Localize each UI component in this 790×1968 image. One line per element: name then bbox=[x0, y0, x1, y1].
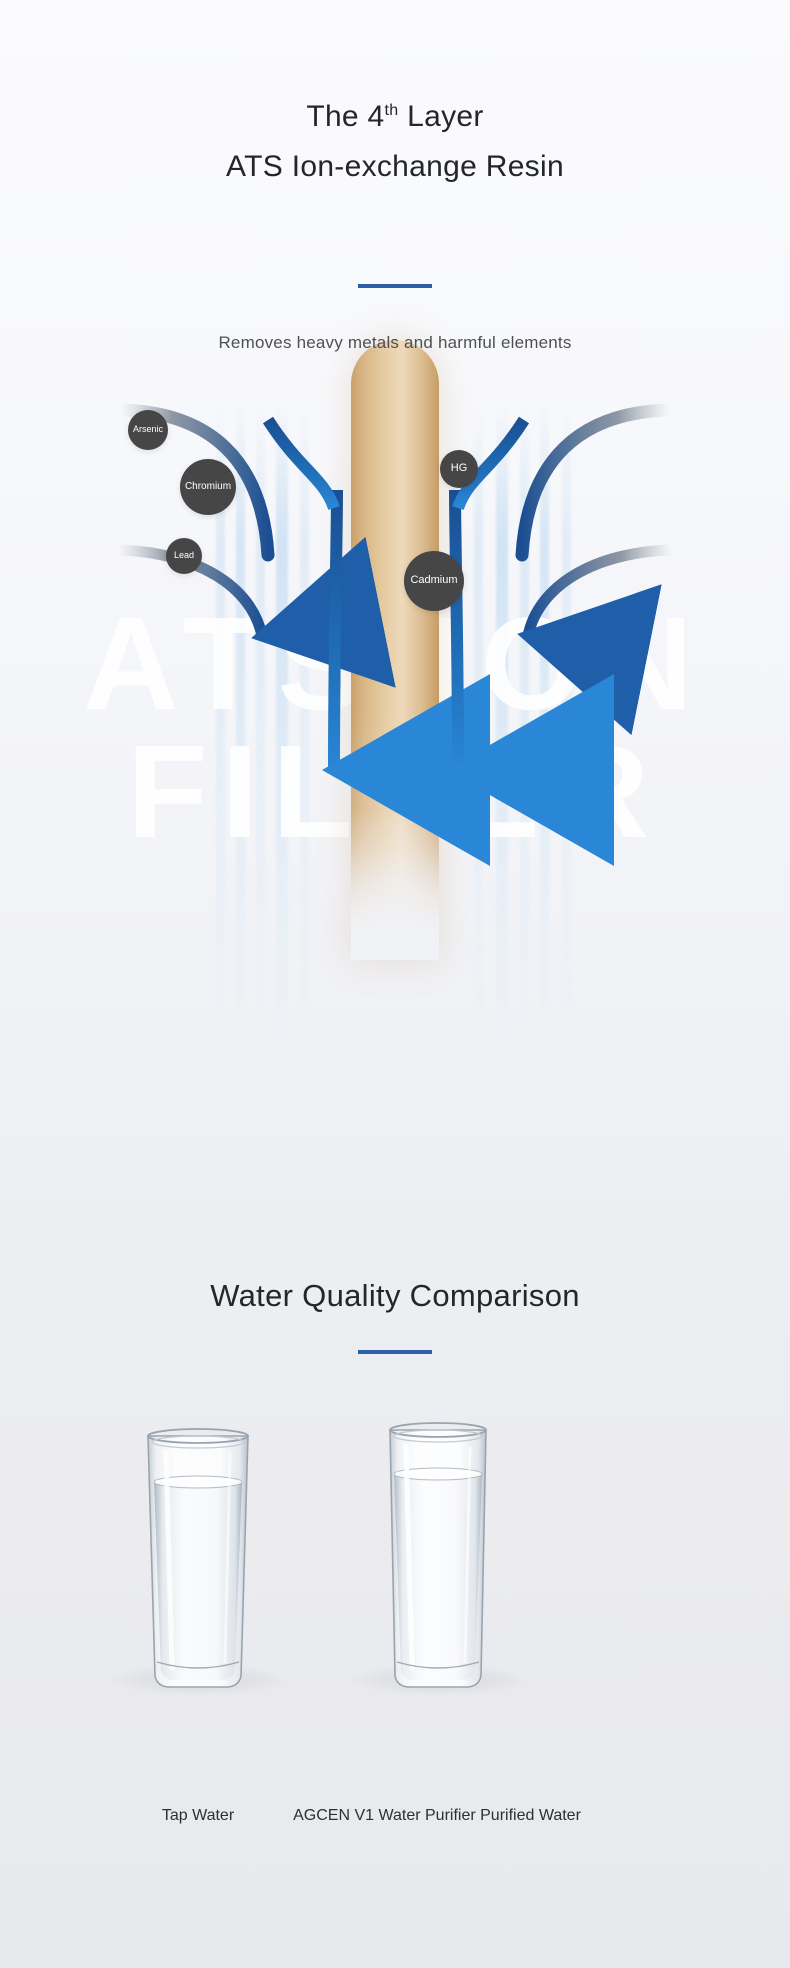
comparison-divider bbox=[358, 1350, 432, 1354]
hero-title-line-1: The 4th Layer bbox=[0, 92, 790, 142]
water-flow-arrows bbox=[0, 340, 790, 900]
badge-chromium: Chromium bbox=[180, 459, 236, 515]
comparison-title: Water Quality Comparison bbox=[0, 1278, 790, 1314]
tap-water-glass-icon bbox=[78, 1418, 318, 1718]
comparison-section: Water Quality Comparison bbox=[0, 1240, 790, 1968]
purified-water-glass-icon bbox=[318, 1418, 558, 1718]
hero-title-block: The 4th Layer ATS Ion-exchange Resin bbox=[0, 92, 790, 192]
hero-title-line-2: ATS Ion-exchange Resin bbox=[0, 142, 790, 192]
glass-cell-purified-water bbox=[318, 1418, 558, 1723]
badge-label: Arsenic bbox=[133, 425, 163, 434]
badge-label: Chromium bbox=[185, 482, 231, 493]
hero-section: ATS ION FILTER bbox=[0, 0, 790, 1240]
hero-title-suffix: Layer bbox=[398, 100, 483, 133]
hero-title-prefix: The 4 bbox=[306, 100, 384, 133]
badge-label: Cadmium bbox=[410, 575, 457, 587]
caption-purified-water: AGCEN V1 Water Purifier Purified Water bbox=[287, 1802, 587, 1829]
badge-label: Lead bbox=[174, 551, 194, 560]
badge-hg: HG bbox=[440, 450, 478, 488]
badge-lead: Lead bbox=[166, 538, 202, 574]
glass-cell-tap-water bbox=[78, 1418, 318, 1723]
ordinal-suffix: th bbox=[385, 102, 399, 119]
product-feature-page: ATS ION FILTER bbox=[0, 0, 790, 1968]
glass-row bbox=[0, 1418, 790, 1718]
badge-arsenic: Arsenic bbox=[128, 410, 168, 450]
hero-subtitle: Removes heavy metals and harmful element… bbox=[0, 333, 790, 353]
badge-cadmium: Cadmium bbox=[404, 551, 464, 611]
hero-divider bbox=[358, 284, 432, 288]
badge-label: HG bbox=[451, 463, 468, 475]
